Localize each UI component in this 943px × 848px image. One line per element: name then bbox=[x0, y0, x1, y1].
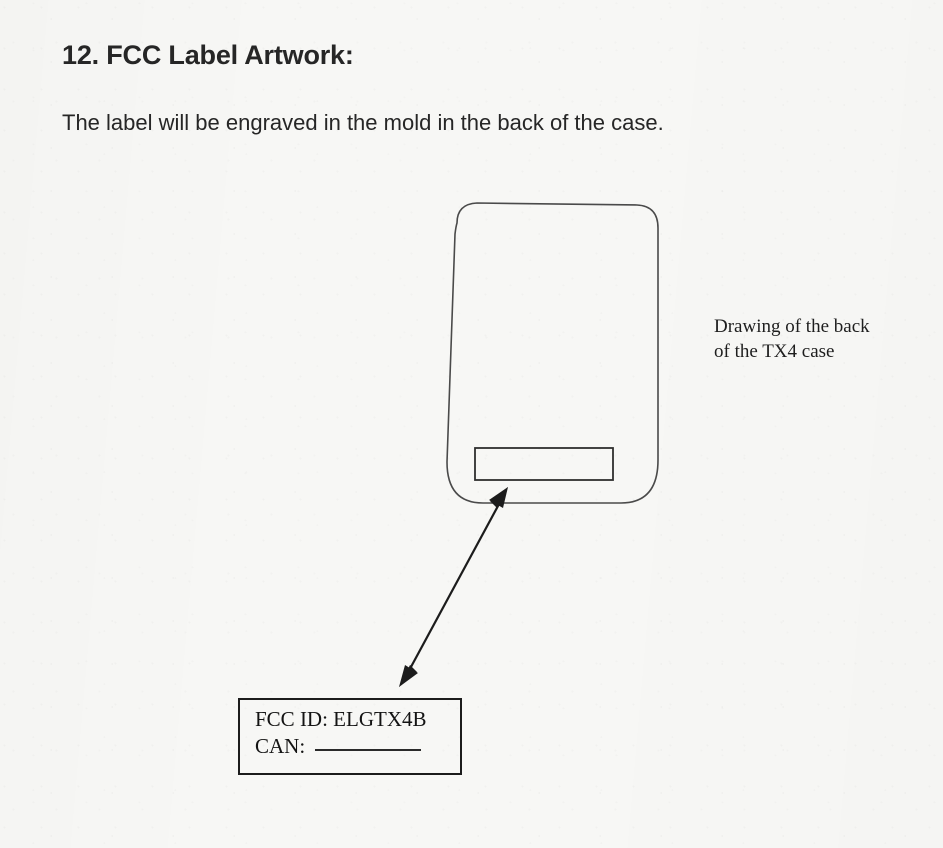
can-label: CAN: bbox=[255, 734, 305, 758]
case-back-drawing bbox=[425, 190, 670, 515]
case-outline-path bbox=[447, 203, 658, 503]
annotation-line-1: Drawing of the back bbox=[714, 316, 870, 337]
can-line: CAN: bbox=[255, 733, 427, 760]
arrowhead-down-fill-icon bbox=[399, 665, 418, 687]
intro-paragraph: The label will be engraved in the mold i… bbox=[62, 110, 664, 136]
fcc-label-artwork-box: FCC ID: ELGTX4B CAN: bbox=[238, 698, 462, 775]
fcc-label-text-block: FCC ID: ELGTX4B CAN: bbox=[255, 706, 427, 760]
page-heading: 12. FCC Label Artwork: bbox=[62, 40, 354, 71]
can-blank-field[interactable] bbox=[315, 734, 421, 751]
arrowhead-up-fill-icon bbox=[489, 487, 508, 508]
arrow-connector bbox=[385, 475, 530, 700]
fcc-id-line: FCC ID: ELGTX4B bbox=[255, 706, 427, 733]
case-annotation-text: Drawing of the back of the TX4 case bbox=[714, 314, 929, 364]
document-page: 12. FCC Label Artwork: The label will be… bbox=[0, 0, 943, 848]
arrow-shaft bbox=[405, 493, 505, 678]
annotation-line-2: of the TX4 case bbox=[714, 341, 834, 362]
